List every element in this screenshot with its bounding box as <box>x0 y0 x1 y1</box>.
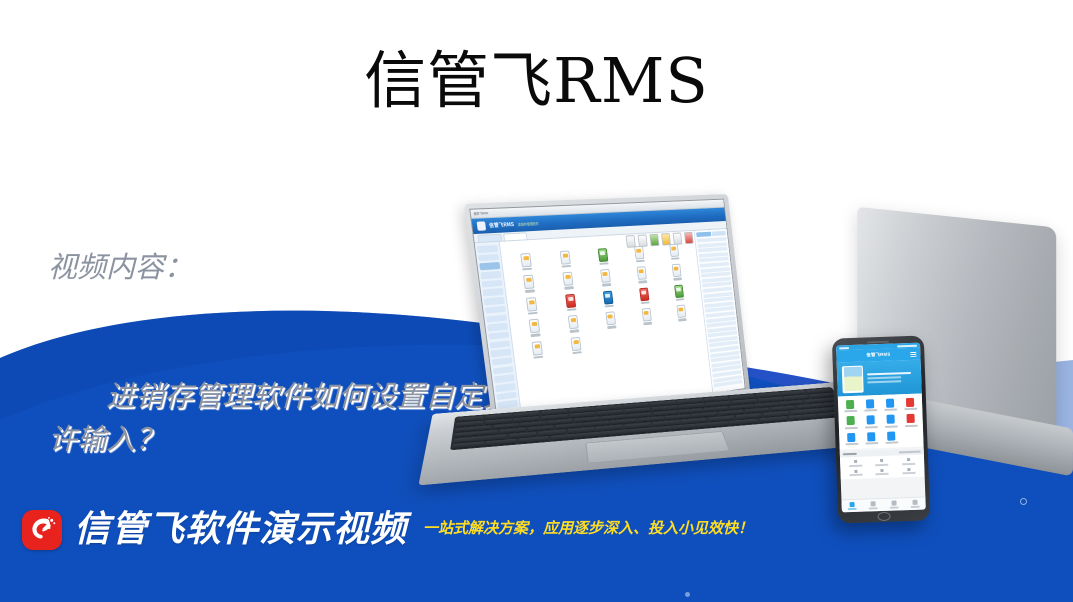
phone-module-icon[interactable] <box>862 415 880 428</box>
phone-module-icon[interactable] <box>842 416 860 429</box>
sidebar-item[interactable] <box>487 323 508 331</box>
laptop-screen: 信管飞RMS 信管飞RMS 进销存管理软件 <box>469 199 745 426</box>
phone-module-icon[interactable] <box>882 415 900 428</box>
module-icon[interactable] <box>507 252 546 272</box>
smartphone: 信管飞RMS <box>832 335 930 523</box>
stat-cell <box>869 459 896 466</box>
module-icon[interactable] <box>587 268 623 287</box>
module-icon[interactable] <box>512 296 551 316</box>
phone-module-icon[interactable] <box>841 400 859 413</box>
module-icon[interactable] <box>660 263 694 281</box>
presentation-slide: 信管飞RMS 视频内容： 进销存管理软件如何设置自定义编号不允许输入？ 信管飞R… <box>0 0 1073 602</box>
stat-cell <box>869 468 896 475</box>
module-icon[interactable] <box>585 247 621 266</box>
module-icon[interactable] <box>552 292 590 312</box>
stats-title <box>843 453 857 455</box>
sidebar-item[interactable] <box>494 374 515 383</box>
module-icon[interactable] <box>657 243 691 261</box>
xinguanfei-bird-logo-icon <box>22 510 62 550</box>
stats-filters[interactable] <box>899 451 921 454</box>
phone-app-title: 信管飞RMS <box>866 352 890 359</box>
nav-item-home[interactable] <box>842 502 863 511</box>
right-panel-tab[interactable] <box>711 231 726 236</box>
module-icon[interactable] <box>624 266 659 285</box>
banner-phone-illustration <box>842 365 864 393</box>
sidebar-item[interactable] <box>495 383 516 392</box>
footer-brand-row: 信管飞软件演示视频 一站式解决方案，应用逐步深入、投入小见效快！ <box>22 510 753 550</box>
phone-earpiece <box>867 340 889 343</box>
sidebar-item[interactable] <box>493 366 514 375</box>
module-icon[interactable] <box>664 304 697 323</box>
module-icon[interactable] <box>590 289 626 308</box>
toolbar-exit-button[interactable] <box>684 232 694 244</box>
module-icon[interactable] <box>549 271 587 291</box>
front-laptop: 信管飞RMS 信管飞RMS 进销存管理软件 <box>430 205 860 505</box>
sidebar-item[interactable] <box>489 340 510 349</box>
sidebar-item[interactable] <box>478 254 499 262</box>
hamburger-icon[interactable] <box>910 351 916 356</box>
stat-cell <box>895 458 922 465</box>
carrier-label <box>839 347 849 349</box>
sidebar-item[interactable] <box>483 288 504 296</box>
app-brand-subtitle: 进销存管理软件 <box>517 221 539 227</box>
module-icon[interactable] <box>510 274 549 294</box>
module-icon[interactable] <box>555 314 592 334</box>
nav-item-reports[interactable] <box>863 501 884 510</box>
module-icon[interactable] <box>515 317 554 338</box>
phone-banner <box>837 360 922 397</box>
phone-module-icon[interactable] <box>842 433 860 446</box>
module-icon[interactable] <box>593 310 629 330</box>
phone-module-icon-placeholder <box>902 430 920 443</box>
stat-cell <box>842 460 869 467</box>
module-icon[interactable] <box>662 283 696 302</box>
phone-screen: 信管飞RMS <box>836 343 926 513</box>
right-panel-tab-active[interactable] <box>696 232 711 237</box>
nav-item-profile[interactable] <box>904 499 925 508</box>
nav-item-stats[interactable] <box>883 500 904 509</box>
phone-module-icon[interactable] <box>862 432 880 445</box>
module-icon-grid[interactable] <box>505 240 704 360</box>
decorative-dot <box>685 592 690 597</box>
sidebar-item[interactable] <box>491 349 512 358</box>
stat-cell <box>896 467 923 474</box>
stat-cell <box>842 469 869 476</box>
module-icon[interactable] <box>557 335 594 356</box>
module-icon[interactable] <box>627 286 662 305</box>
module-icon[interactable] <box>622 245 657 263</box>
sidebar-item[interactable] <box>477 245 498 253</box>
phone-module-icon[interactable] <box>901 414 919 427</box>
app-window-title: 信管飞RMS <box>473 211 488 216</box>
sidebar-item[interactable] <box>480 271 501 279</box>
phone-stats-grid <box>840 455 925 480</box>
phone-module-icon[interactable] <box>881 398 899 411</box>
device-illustration: 信管飞RMS 信管飞RMS 进销存管理软件 <box>400 195 1073 525</box>
phone-module-icon[interactable] <box>882 431 900 444</box>
right-panel-tabs[interactable] <box>696 231 726 237</box>
sidebar-item[interactable] <box>485 306 506 314</box>
phone-bottom-nav[interactable] <box>841 496 925 512</box>
phone-module-icon[interactable] <box>901 398 919 411</box>
sidebar-item[interactable] <box>496 391 517 400</box>
app-tab-active[interactable] <box>477 234 502 242</box>
app-logo-icon <box>477 221 487 230</box>
footer-tagline: 一站式解决方案，应用逐步深入、投入小见效快！ <box>423 508 753 548</box>
sidebar-item[interactable] <box>484 297 505 305</box>
phone-home-button[interactable] <box>877 511 890 520</box>
app-brand-name: 信管飞RMS <box>489 221 515 229</box>
app-tab[interactable] <box>503 232 527 240</box>
module-icon[interactable] <box>518 339 557 360</box>
sidebar-item[interactable] <box>488 331 509 340</box>
decorative-dot <box>1020 498 1027 505</box>
sidebar-item[interactable] <box>486 314 507 322</box>
phone-stats-section <box>840 449 925 480</box>
sidebar-item[interactable] <box>492 357 513 366</box>
phone-module-icon[interactable] <box>861 399 879 412</box>
banner-text <box>867 372 916 384</box>
phone-module-grid[interactable] <box>838 394 924 450</box>
status-icons <box>897 344 917 347</box>
page-title: 信管飞RMS <box>0 46 1073 116</box>
sidebar-item[interactable] <box>481 280 502 288</box>
footer-brand-text: 信管飞软件演示视频 <box>74 510 407 550</box>
sidebar-item-active[interactable] <box>479 262 500 270</box>
module-icon[interactable] <box>629 307 664 326</box>
module-icon[interactable] <box>547 250 585 269</box>
toolbar-button[interactable] <box>649 234 659 247</box>
